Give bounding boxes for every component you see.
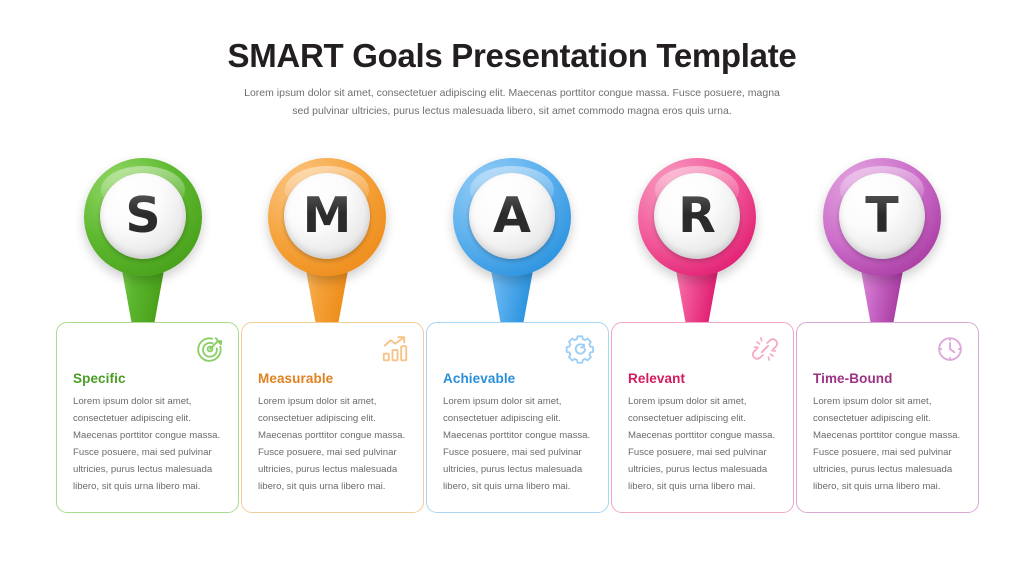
- pin-inner-circle: M: [284, 173, 370, 259]
- card-heading: Achievable: [443, 371, 515, 386]
- pin-letter: R: [678, 191, 716, 240]
- page-title: SMART Goals Presentation Template: [0, 38, 1024, 74]
- bar-chart-growth-icon: [380, 334, 410, 364]
- card-heading: Specific: [73, 371, 126, 386]
- pin-letter: M: [303, 191, 352, 240]
- card-body-text: Lorem ipsum dolor sit amet, consectetuer…: [258, 393, 410, 495]
- card-heading: Time-Bound: [813, 371, 893, 386]
- subtitle-line-2: sed pulvinar ultricies, purus lectus mal…: [212, 102, 812, 120]
- target-arrow-icon: [195, 334, 225, 364]
- card-heading: Measurable: [258, 371, 333, 386]
- pin-head: T: [823, 158, 941, 276]
- card-specific[interactable]: Specific Lorem ipsum dolor sit amet, con…: [56, 322, 239, 513]
- broken-link-icon: [750, 334, 780, 364]
- subtitle-line-1: Lorem ipsum dolor sit amet, consectetuer…: [244, 87, 780, 99]
- pin-letter: A: [493, 191, 531, 240]
- pin-shape: M: [268, 158, 386, 322]
- pin-head: S: [84, 158, 202, 276]
- pin-shape: R: [638, 158, 756, 322]
- page-subtitle: Lorem ipsum dolor sit amet, consectetuer…: [212, 84, 812, 121]
- pin-marker-time-bound[interactable]: T: [823, 158, 941, 322]
- pin-shape: S: [84, 158, 202, 322]
- pin-letter: T: [865, 191, 898, 240]
- card-achievable[interactable]: Achievable Lorem ipsum dolor sit amet, c…: [426, 322, 609, 513]
- pin-marker-measurable[interactable]: M: [268, 158, 386, 322]
- slide-canvas: SMART Goals Presentation Template Lorem …: [0, 0, 1024, 576]
- pin-inner-circle: S: [100, 173, 186, 259]
- card-measurable[interactable]: Measurable Lorem ipsum dolor sit amet, c…: [241, 322, 424, 513]
- pin-shape: T: [823, 158, 941, 322]
- card-body-text: Lorem ipsum dolor sit amet, consectetuer…: [813, 393, 965, 495]
- gear-icon: [565, 334, 595, 364]
- pin-head: A: [453, 158, 571, 276]
- pin-letter: S: [125, 191, 160, 240]
- card-relevant[interactable]: Relevant Lorem ipsum dolor sit amet, con…: [611, 322, 794, 513]
- pin-inner-circle: R: [654, 173, 740, 259]
- pin-shape: A: [453, 158, 571, 322]
- clock-icon: [935, 334, 965, 364]
- card-heading: Relevant: [628, 371, 685, 386]
- card-body-text: Lorem ipsum dolor sit amet, consectetuer…: [73, 393, 225, 495]
- pin-marker-achievable[interactable]: A: [453, 158, 571, 322]
- pin-inner-circle: T: [839, 173, 925, 259]
- pin-head: M: [268, 158, 386, 276]
- card-time-bound[interactable]: Time-Bound Lorem ipsum dolor sit amet, c…: [796, 322, 979, 513]
- pin-marker-specific[interactable]: S: [84, 158, 202, 322]
- card-body-text: Lorem ipsum dolor sit amet, consectetuer…: [628, 393, 780, 495]
- pin-head: R: [638, 158, 756, 276]
- pin-inner-circle: A: [469, 173, 555, 259]
- card-body-text: Lorem ipsum dolor sit amet, consectetuer…: [443, 393, 595, 495]
- pin-marker-relevant[interactable]: R: [638, 158, 756, 322]
